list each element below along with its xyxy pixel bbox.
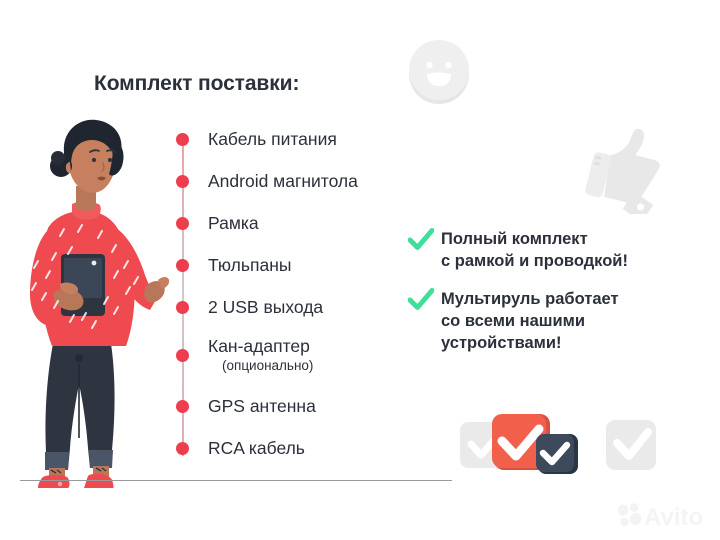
bullet-dot-icon	[176, 133, 189, 146]
list-item-label: GPS антенна	[208, 395, 316, 417]
avito-watermark: Avito	[616, 500, 712, 530]
check-mark-icon	[408, 288, 434, 312]
list-item-label: Кабель питания	[208, 128, 337, 150]
list-item: Тюльпаны	[176, 254, 291, 276]
list-item: Android магнитола	[176, 170, 358, 192]
list-item: RCA кабель	[176, 437, 305, 459]
bullet-dot-icon	[176, 442, 189, 455]
list-item-label: Рамка	[208, 212, 259, 234]
list-item: Рамка	[176, 212, 259, 234]
list-item: 2 USB выхода	[176, 296, 323, 318]
bullet-dot-icon	[176, 217, 189, 230]
page-title: Комплект поставки:	[94, 72, 299, 96]
list-item: GPS антенна	[176, 395, 316, 417]
bullet-dot-icon	[176, 175, 189, 188]
check-mark-icon	[408, 228, 434, 252]
benefit-item: Полный комплект с рамкой и проводкой!	[408, 228, 628, 272]
smiley-face-icon	[405, 38, 473, 106]
woman-with-tablet-illustration	[8, 108, 176, 488]
watermark-label: Avito	[644, 504, 703, 530]
bullet-dot-icon	[176, 259, 189, 272]
list-item-label: Кан-адаптер	[208, 335, 313, 357]
benefit-item: Мультируль работает со всеми нашими устр…	[408, 288, 619, 354]
list-item: Кан-адаптер (опционально)	[176, 335, 313, 375]
ground-line	[20, 480, 452, 481]
bullet-dot-icon	[176, 400, 189, 413]
benefit-text: Полный комплект с рамкой и проводкой!	[441, 228, 628, 272]
bullet-dot-icon	[176, 349, 189, 362]
list-item-label: RCA кабель	[208, 437, 305, 459]
promo-image: Комплект поставки: Кабель питания Androi…	[0, 0, 720, 540]
list-item-label: Android магнитола	[208, 170, 358, 192]
thumbs-up-icon	[578, 118, 664, 214]
list-item-label: Тюльпаны	[208, 254, 291, 276]
benefit-text: Мультируль работает со всеми нашими устр…	[441, 288, 619, 354]
checkbox-group-icon	[458, 410, 658, 490]
list-item-sublabel: (опционально)	[222, 357, 313, 375]
bullet-dot-icon	[176, 301, 189, 314]
list-item-label: 2 USB выхода	[208, 296, 323, 318]
list-item: Кабель питания	[176, 128, 337, 150]
